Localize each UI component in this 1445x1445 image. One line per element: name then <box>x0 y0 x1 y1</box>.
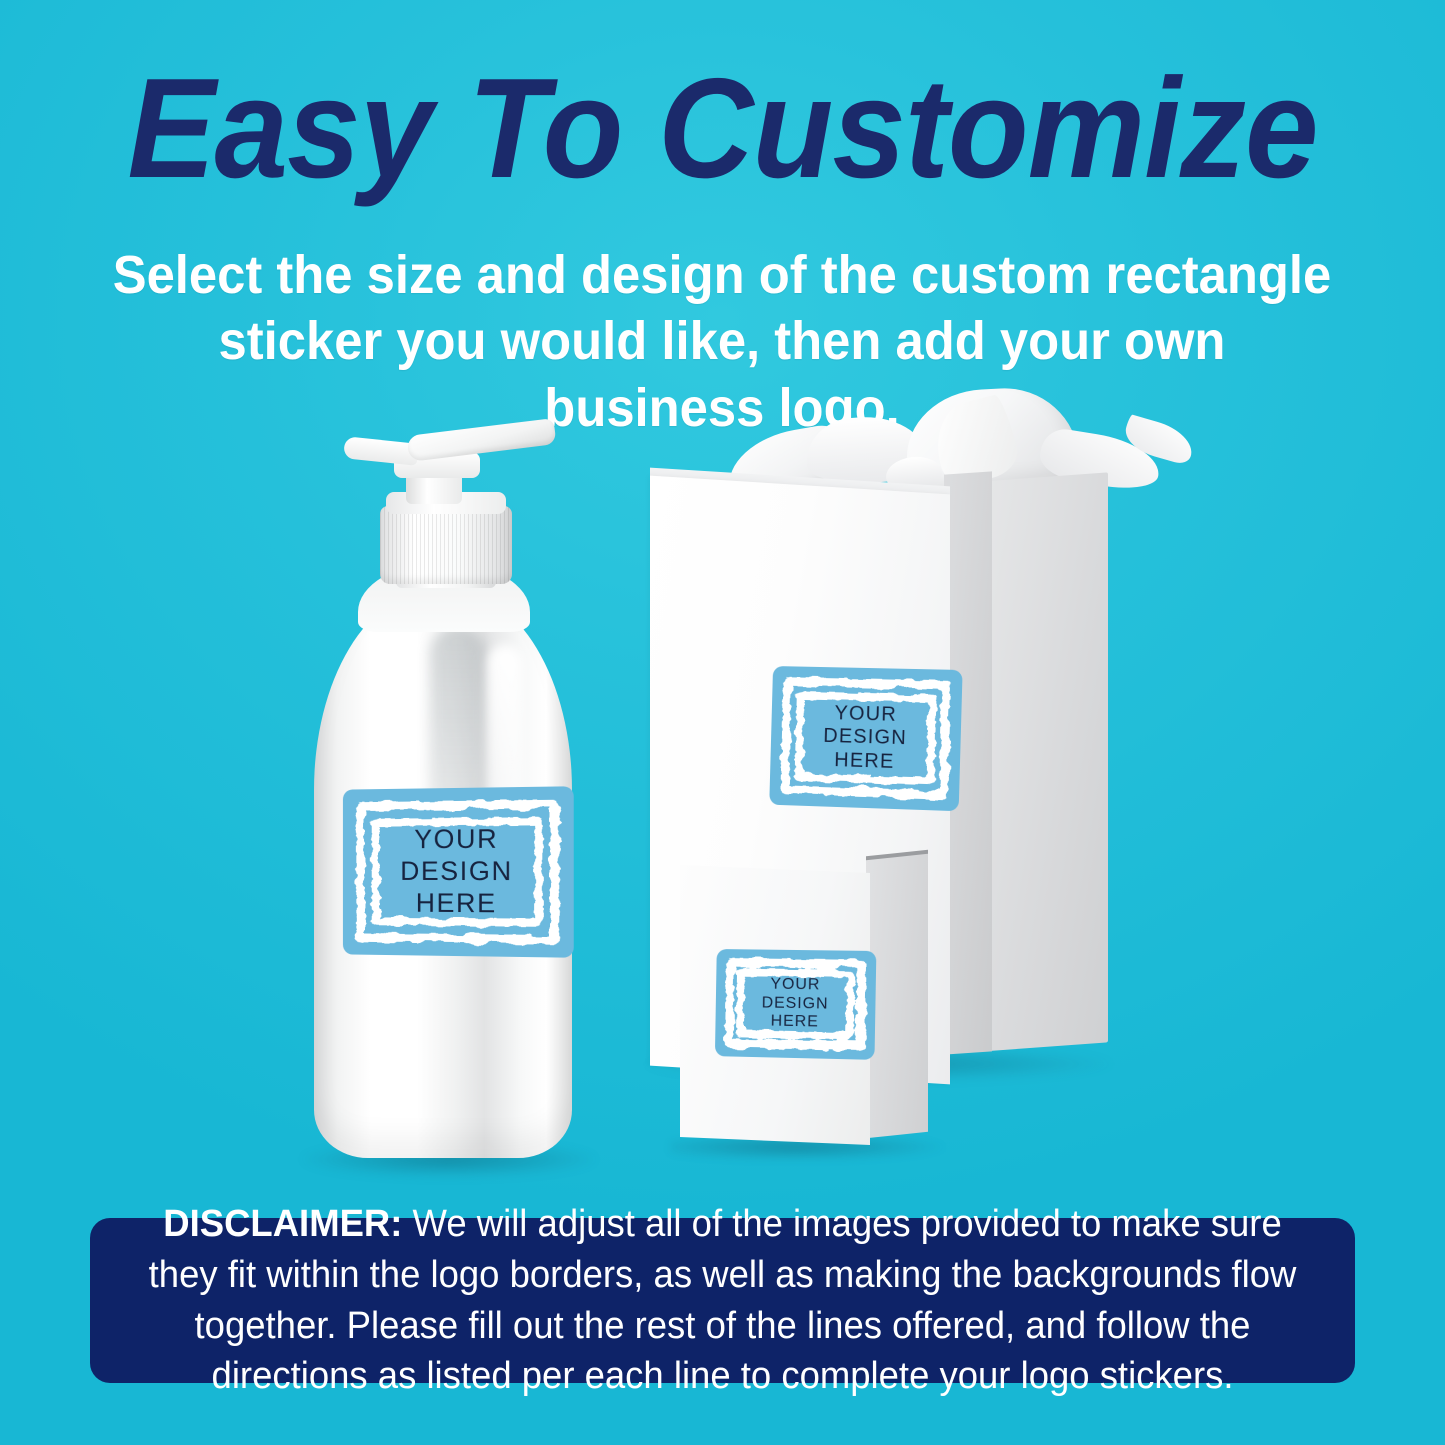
sticker-line-1: YOUR <box>762 975 829 995</box>
sticker-placeholder-text: YOUR DESIGN HERE <box>761 975 829 1033</box>
disclaimer-label: DISCLAIMER: <box>163 1203 402 1245</box>
promo-graphic: Easy To Customize Select the size and de… <box>0 0 1445 1445</box>
sticker-bottle: YOUR DESIGN HERE <box>343 786 574 957</box>
sticker-line-1: YOUR <box>400 824 513 856</box>
sticker-line-2: DESIGN <box>761 994 828 1014</box>
sticker-line-3: HERE <box>761 1013 828 1033</box>
sticker-line-2: DESIGN <box>400 856 513 888</box>
sticker-gift-box: YOUR DESIGN HERE <box>769 666 962 811</box>
disclaimer-text: DISCLAIMER: We will adjust all of the im… <box>142 1199 1303 1403</box>
sticker-placeholder-text: YOUR DESIGN HERE <box>822 702 908 775</box>
sticker-line-3: HERE <box>400 888 513 920</box>
disclaimer-box: DISCLAIMER: We will adjust all of the im… <box>90 1218 1355 1383</box>
gift-box-back-panel <box>980 472 1108 1051</box>
pump-nozzle <box>406 418 556 462</box>
sticker-line-2: DESIGN <box>823 725 907 751</box>
sticker-small-box: YOUR DESIGN HERE <box>715 949 876 1060</box>
sticker-placeholder-text: YOUR DESIGN HERE <box>400 824 513 921</box>
bottle-ribbed-collar <box>380 506 512 584</box>
sticker-line-3: HERE <box>822 749 906 775</box>
sticker-line-1: YOUR <box>824 702 908 728</box>
